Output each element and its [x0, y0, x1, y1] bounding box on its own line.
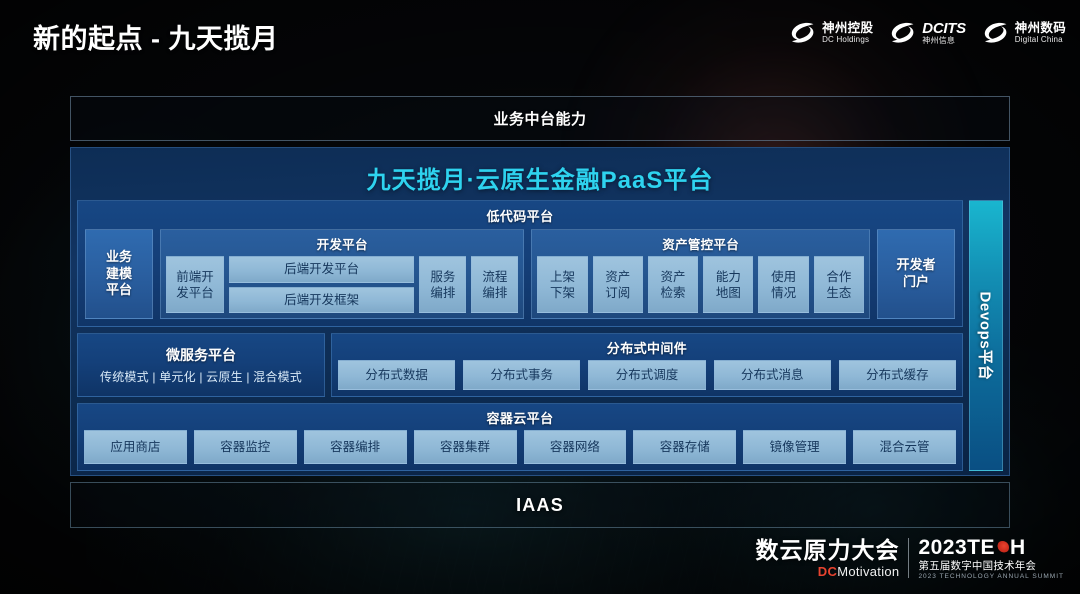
divider	[908, 538, 909, 578]
devops-platform-label: Devops平台	[976, 291, 997, 380]
tile-label: 容器集群	[440, 439, 490, 455]
tile-business-modeling-platform[interactable]: 业务建模平台	[85, 229, 153, 319]
tile-container-monitoring[interactable]: 容器监控	[194, 430, 297, 464]
tile-label: 分布式缓存	[866, 367, 929, 383]
tile-backend-dev-platform[interactable]: 后端开发平台	[229, 256, 414, 283]
microservice-platform-heading: 微服务平台	[166, 345, 236, 365]
logo-text: DCITS 神州信息	[922, 21, 966, 45]
paas-body: 低代码平台 业务建模平台 开发平台 前端开发平台	[77, 200, 1003, 471]
logo-name-en: Digital China	[1015, 36, 1066, 44]
asset-management-row: 上架下架 资产订阅 资产检索 能力地图	[537, 256, 864, 313]
tile-label: 合作生态	[826, 269, 851, 301]
tile-label: 分布式消息	[741, 367, 804, 383]
conference-name-en-dc: DC	[818, 564, 837, 579]
tile-distributed-message[interactable]: 分布式消息	[714, 360, 831, 390]
tile-frontend-dev-platform[interactable]: 前端开发平台	[166, 256, 224, 313]
tile-label: 容器存储	[660, 439, 710, 455]
paas-platform-title: 九天揽月·云原生金融PaaS平台	[77, 154, 1003, 200]
asset-management-heading: 资产管控平台	[537, 234, 864, 253]
lowcode-platform-section: 低代码平台 业务建模平台 开发平台 前端开发平台	[77, 200, 963, 327]
tile-label: 开发者门户	[896, 257, 935, 290]
conference-logo-right: 2023TEH 第五届数字中国技术年会 2023 TECHNOLOGY ANNU…	[918, 537, 1064, 581]
microservice-platform-subtitle: 传统模式 | 单元化 | 云原生 | 混合模式	[100, 368, 302, 385]
tile-label: 资产订阅	[605, 269, 630, 301]
conference-logo: 数云原力大会 DCMotivation 2023TEH 第五届数字中国技术年会 …	[755, 537, 1064, 581]
conference-name-cn: 数云原力大会	[755, 539, 899, 562]
tile-label: 容器编排	[330, 439, 380, 455]
tile-listing-delisting[interactable]: 上架下架	[537, 256, 587, 313]
devops-platform-rail[interactable]: Devops平台	[969, 200, 1003, 471]
tile-label: 分布式调度	[616, 367, 679, 383]
tile-distributed-cache[interactable]: 分布式缓存	[839, 360, 956, 390]
tile-label: 服务编排	[430, 269, 455, 301]
tile-backend-dev-framework[interactable]: 后端开发框架	[229, 287, 414, 314]
swirl-icon	[790, 21, 816, 45]
tile-label: 容器监控	[220, 439, 270, 455]
tile-container-storage[interactable]: 容器存储	[633, 430, 736, 464]
tile-container-cluster[interactable]: 容器集群	[414, 430, 517, 464]
conference-tech-right: H	[1010, 537, 1026, 558]
lowcode-platform-heading: 低代码平台	[85, 206, 955, 225]
development-platform-heading: 开发平台	[166, 234, 518, 253]
conference-summit-en: 2023 TECHNOLOGY ANNUAL SUMMIT	[918, 574, 1064, 581]
tile-distributed-data[interactable]: 分布式数据	[338, 360, 455, 390]
development-platform-group: 开发平台 前端开发平台 后端开发平台	[160, 229, 524, 319]
slide-header: 新的起点 - 九天揽月 神州控股 DC Holdings	[0, 0, 1080, 74]
tile-capability-map[interactable]: 能力地图	[703, 256, 753, 313]
logo-text: 神州控股 DC Holdings	[822, 22, 873, 44]
distributed-middleware-section: 分布式中间件 分布式数据 分布式事务 分布式调度	[331, 333, 963, 397]
tile-process-orchestration[interactable]: 流程编排	[471, 256, 518, 313]
conference-year-tech: 2023TEH	[918, 537, 1064, 558]
tile-label: 使用情况	[771, 269, 796, 301]
development-platform-row: 前端开发平台 后端开发平台 后端开发框架	[166, 256, 518, 313]
conference-name-en-motivation: Motivation	[837, 564, 899, 579]
conference-name-en: DCMotivation	[818, 565, 900, 578]
distributed-middleware-row: 分布式数据 分布式事务 分布式调度 分布式消息	[338, 360, 956, 390]
tile-container-network[interactable]: 容器网络	[524, 430, 627, 464]
backend-tiles-stack: 后端开发平台 后端开发框架	[229, 256, 414, 313]
swirl-icon	[890, 21, 916, 45]
tile-app-store[interactable]: 应用商店	[84, 430, 187, 464]
tile-label: 业务建模平台	[106, 249, 132, 299]
tile-label: 容器网络	[550, 439, 600, 455]
business-middle-platform-bar: 业务中台能力	[70, 96, 1010, 141]
paas-platform-title-label: 九天揽月·云原生金融PaaS平台	[367, 160, 714, 195]
asset-management-platform-group: 资产管控平台 上架下架 资产订阅 资产检索	[531, 229, 870, 319]
tile-label: 分布式数据	[365, 367, 428, 383]
tile-label: 前端开发平台	[176, 269, 214, 301]
tile-label: 混合云管	[880, 439, 930, 455]
architecture-diagram: 业务中台能力 九天揽月·云原生金融PaaS平台 低代码平台 业务建模平台 开发平…	[70, 96, 1010, 528]
tile-container-orchestration[interactable]: 容器编排	[304, 430, 407, 464]
lowcode-row: 业务建模平台 开发平台 前端开发平台 后端开发平台	[85, 229, 955, 319]
logo-name-cn: 神州数码	[1015, 22, 1066, 35]
tile-developer-portal[interactable]: 开发者门户	[877, 229, 955, 319]
business-middle-platform-label: 业务中台能力	[493, 108, 586, 129]
middleware-row: 微服务平台 传统模式 | 单元化 | 云原生 | 混合模式 分布式中间件 分布式…	[77, 333, 963, 397]
swirl-icon	[983, 21, 1009, 45]
swoosh-icon	[996, 541, 1009, 554]
container-cloud-heading: 容器云平台	[84, 408, 956, 427]
paas-left-column: 低代码平台 业务建模平台 开发平台 前端开发平台	[77, 200, 963, 471]
paas-platform-panel: 九天揽月·云原生金融PaaS平台 低代码平台 业务建模平台 开发平台	[70, 147, 1010, 476]
logo-name-cn: DCITS	[922, 21, 966, 37]
tile-hybrid-cloud-management[interactable]: 混合云管	[853, 430, 956, 464]
tile-label: 上架下架	[550, 269, 575, 301]
logo-name-en: DC Holdings	[822, 36, 873, 44]
logo-name-cn: 神州控股	[822, 22, 873, 35]
tile-label: 应用商店	[110, 439, 160, 455]
conference-logo-left: 数云原力大会 DCMotivation	[755, 539, 899, 578]
tile-label: 后端开发框架	[284, 292, 359, 308]
tile-distributed-transaction[interactable]: 分布式事务	[463, 360, 580, 390]
tile-label: 流程编排	[482, 269, 507, 301]
tile-partner-ecosystem[interactable]: 合作生态	[814, 256, 864, 313]
tile-label: 镜像管理	[770, 439, 820, 455]
tile-distributed-scheduling[interactable]: 分布式调度	[588, 360, 705, 390]
tile-asset-search[interactable]: 资产检索	[648, 256, 698, 313]
container-cloud-row: 应用商店 容器监控 容器编排 容器集群 容器网络	[84, 430, 956, 464]
tile-asset-subscription[interactable]: 资产订阅	[593, 256, 643, 313]
logo-text: 神州数码 Digital China	[1015, 22, 1066, 44]
logo-name-en: 神州信息	[922, 37, 966, 45]
logo-dc-holdings: 神州控股 DC Holdings	[790, 21, 873, 45]
distributed-middleware-heading: 分布式中间件	[338, 338, 956, 357]
brand-logo-bar: 神州控股 DC Holdings DCITS 神州信息	[790, 21, 1066, 45]
logo-dcits: DCITS 神州信息	[890, 21, 966, 45]
tile-label: 分布式事务	[491, 367, 554, 383]
conference-tech-left: TE	[967, 537, 995, 558]
tile-label: 资产检索	[661, 269, 686, 301]
iaas-label: IAAS	[516, 495, 564, 516]
iaas-bar: IAAS	[70, 482, 1010, 528]
logo-digital-china: 神州数码 Digital China	[983, 21, 1066, 45]
conference-summit-cn: 第五届数字中国技术年会	[918, 561, 1064, 572]
conference-year: 2023	[918, 537, 967, 558]
container-cloud-platform-section: 容器云平台 应用商店 容器监控 容器编排 容器集群	[77, 403, 963, 471]
page-title: 新的起点 - 九天揽月	[33, 17, 279, 56]
tile-label: 后端开发平台	[284, 261, 359, 277]
microservice-platform-section[interactable]: 微服务平台 传统模式 | 单元化 | 云原生 | 混合模式	[77, 333, 325, 397]
tile-label: 能力地图	[716, 269, 741, 301]
tile-image-management[interactable]: 镜像管理	[743, 430, 846, 464]
tile-service-orchestration[interactable]: 服务编排	[419, 256, 466, 313]
tile-usage-status[interactable]: 使用情况	[758, 256, 808, 313]
